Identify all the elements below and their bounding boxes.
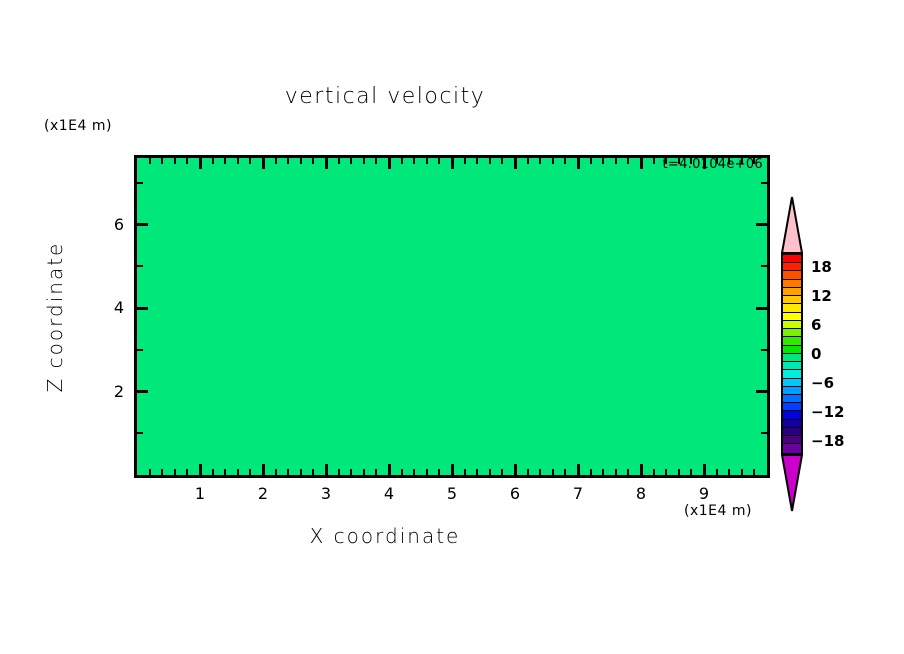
x-minor-tick — [716, 469, 718, 475]
x-major-tick — [262, 464, 265, 475]
x-tick-label: 3 — [306, 484, 346, 503]
x-minor-tick-top — [350, 158, 352, 164]
x-minor-tick — [615, 469, 617, 475]
colorbar-band — [783, 436, 801, 444]
x-minor-tick-top — [174, 158, 176, 164]
x-major-tick-top — [451, 158, 454, 169]
x-minor-tick-top — [300, 158, 302, 164]
z-major-tick — [137, 307, 148, 310]
x-major-tick-top — [199, 158, 202, 169]
x-minor-tick-top — [186, 158, 188, 164]
x-minor-tick — [161, 469, 163, 475]
x-minor-tick — [287, 469, 289, 475]
x-minor-tick-top — [237, 158, 239, 164]
x-minor-tick — [426, 469, 428, 475]
z-minor-tick-right — [761, 349, 767, 351]
z-axis-unit-label: (x1E4 m) — [44, 118, 112, 134]
x-minor-tick-top — [224, 158, 226, 164]
x-minor-tick — [741, 469, 743, 475]
colorbar-band — [783, 420, 801, 428]
plot-area: t=4.0104e+06 — [134, 155, 770, 478]
colorbar-band — [783, 395, 801, 403]
colorbar-tick-label: 18 — [811, 258, 832, 276]
z-minor-tick — [137, 349, 143, 351]
z-minor-tick-right — [761, 432, 767, 434]
x-minor-tick-top — [413, 158, 415, 164]
colorbar-band — [783, 255, 801, 263]
colorbar-band — [783, 387, 801, 395]
x-major-tick-top — [388, 158, 391, 169]
z-major-tick-right — [756, 307, 767, 310]
x-minor-tick — [527, 469, 529, 475]
x-minor-tick — [627, 469, 629, 475]
colorbar-band — [783, 321, 801, 329]
colorbar-band — [783, 313, 801, 321]
colorbar-tick-label: −18 — [811, 432, 844, 450]
x-minor-tick — [338, 469, 340, 475]
colorbar: 181260−6−12−18 — [777, 196, 807, 512]
x-minor-tick-top — [464, 158, 466, 164]
x-major-tick-top — [577, 158, 580, 169]
colorbar-bands — [781, 253, 803, 455]
x-minor-tick — [212, 469, 214, 475]
x-axis-unit-label: (x1E4 m) — [684, 503, 752, 519]
x-minor-tick-top — [287, 158, 289, 164]
colorbar-band — [783, 379, 801, 387]
z-minor-tick — [137, 265, 143, 267]
colorbar-band — [783, 354, 801, 362]
x-minor-tick-top — [426, 158, 428, 164]
x-minor-tick-top — [627, 158, 629, 164]
x-minor-tick-top — [501, 158, 503, 164]
z-axis-title: Z coordinate — [43, 227, 67, 407]
colorbar-tick-label: −6 — [811, 374, 834, 392]
x-major-tick — [577, 464, 580, 475]
colorbar-band — [783, 329, 801, 337]
z-major-tick — [137, 390, 148, 393]
x-minor-tick-top — [149, 158, 151, 164]
colorbar-band — [783, 304, 801, 312]
x-minor-tick — [224, 469, 226, 475]
x-minor-tick-top — [375, 158, 377, 164]
colorbar-band — [783, 346, 801, 354]
x-major-tick — [199, 464, 202, 475]
x-minor-tick — [174, 469, 176, 475]
colorbar-over-arrow — [781, 196, 803, 254]
x-tick-label: 4 — [369, 484, 409, 503]
x-minor-tick — [363, 469, 365, 475]
x-minor-tick — [489, 469, 491, 475]
x-minor-tick-top — [564, 158, 566, 164]
x-major-tick-top — [325, 158, 328, 169]
x-minor-tick-top — [539, 158, 541, 164]
page-title: vertical velocity — [0, 84, 770, 109]
x-minor-tick-top — [438, 158, 440, 164]
x-tick-label: 2 — [243, 484, 283, 503]
x-minor-tick — [539, 469, 541, 475]
x-major-tick — [388, 464, 391, 475]
x-minor-tick-top — [401, 158, 403, 164]
z-minor-tick — [137, 182, 143, 184]
x-minor-tick — [728, 469, 730, 475]
x-minor-tick — [476, 469, 478, 475]
colorbar-band — [783, 444, 801, 452]
x-tick-label: 1 — [180, 484, 220, 503]
x-major-tick-top — [640, 158, 643, 169]
colorbar-band — [783, 271, 801, 279]
colorbar-band — [783, 263, 801, 271]
x-minor-tick-top — [602, 158, 604, 164]
x-minor-tick-top — [552, 158, 554, 164]
x-minor-tick-top — [527, 158, 529, 164]
colorbar-tick-label: 0 — [811, 345, 821, 363]
x-tick-label: 7 — [558, 484, 598, 503]
x-minor-tick — [237, 469, 239, 475]
x-minor-tick — [690, 469, 692, 475]
x-minor-tick-top — [590, 158, 592, 164]
x-minor-tick-top — [249, 158, 251, 164]
colorbar-band — [783, 428, 801, 436]
z-minor-tick — [137, 432, 143, 434]
x-minor-tick-top — [363, 158, 365, 164]
x-minor-tick-top — [312, 158, 314, 164]
x-minor-tick-top — [653, 158, 655, 164]
x-minor-tick-top — [161, 158, 163, 164]
x-minor-tick-top — [212, 158, 214, 164]
x-major-tick — [640, 464, 643, 475]
colorbar-band — [783, 280, 801, 288]
x-minor-tick-top — [489, 158, 491, 164]
x-minor-tick — [300, 469, 302, 475]
x-minor-tick — [665, 469, 667, 475]
x-minor-tick — [564, 469, 566, 475]
x-major-tick — [703, 464, 706, 475]
x-minor-tick — [401, 469, 403, 475]
colorbar-over-arrow-shape — [781, 196, 803, 254]
x-tick-label: 6 — [495, 484, 535, 503]
x-tick-label: 9 — [684, 484, 724, 503]
colorbar-tick-label: 12 — [811, 287, 832, 305]
colorbar-band — [783, 296, 801, 304]
x-minor-tick — [375, 469, 377, 475]
z-tick-label: 4 — [84, 298, 124, 317]
vertical-velocity-heatmap — [137, 158, 767, 475]
colorbar-tick-label: −12 — [811, 403, 844, 421]
x-minor-tick-top — [615, 158, 617, 164]
x-minor-tick — [590, 469, 592, 475]
timestamp-annotation: t=4.0104e+06 — [662, 157, 763, 172]
z-tick-label: 6 — [84, 215, 124, 234]
z-minor-tick-right — [761, 265, 767, 267]
colorbar-band — [783, 288, 801, 296]
x-major-tick — [451, 464, 454, 475]
x-major-tick — [514, 464, 517, 475]
x-minor-tick-top — [338, 158, 340, 164]
x-tick-label: 8 — [621, 484, 661, 503]
x-minor-tick-top — [275, 158, 277, 164]
x-minor-tick — [464, 469, 466, 475]
x-minor-tick — [275, 469, 277, 475]
colorbar-band — [783, 362, 801, 370]
x-minor-tick-top — [476, 158, 478, 164]
colorbar-band — [783, 337, 801, 345]
x-minor-tick — [350, 469, 352, 475]
x-minor-tick — [413, 469, 415, 475]
z-major-tick-right — [756, 223, 767, 226]
x-minor-tick — [678, 469, 680, 475]
x-major-tick — [325, 464, 328, 475]
x-minor-tick — [438, 469, 440, 475]
x-minor-tick — [249, 469, 251, 475]
colorbar-under-arrow-shape — [781, 454, 803, 512]
x-minor-tick — [653, 469, 655, 475]
z-major-tick — [137, 223, 148, 226]
colorbar-band — [783, 403, 801, 411]
x-tick-label: 5 — [432, 484, 472, 503]
x-major-tick-top — [262, 158, 265, 169]
z-minor-tick-right — [761, 182, 767, 184]
x-minor-tick — [753, 469, 755, 475]
x-minor-tick — [602, 469, 604, 475]
x-minor-tick — [186, 469, 188, 475]
colorbar-band — [783, 411, 801, 419]
colorbar-band — [783, 370, 801, 378]
x-major-tick-top — [514, 158, 517, 169]
colorbar-under-arrow — [781, 454, 803, 512]
figure-canvas: vertical velocity (x1E4 m) (x1E4 m) X co… — [0, 0, 904, 654]
x-minor-tick — [312, 469, 314, 475]
z-tick-label: 2 — [84, 382, 124, 401]
x-minor-tick — [501, 469, 503, 475]
z-major-tick-right — [756, 390, 767, 393]
colorbar-tick-label: 6 — [811, 316, 821, 334]
x-minor-tick — [149, 469, 151, 475]
x-minor-tick — [552, 469, 554, 475]
x-axis-title: X coordinate — [0, 524, 770, 548]
